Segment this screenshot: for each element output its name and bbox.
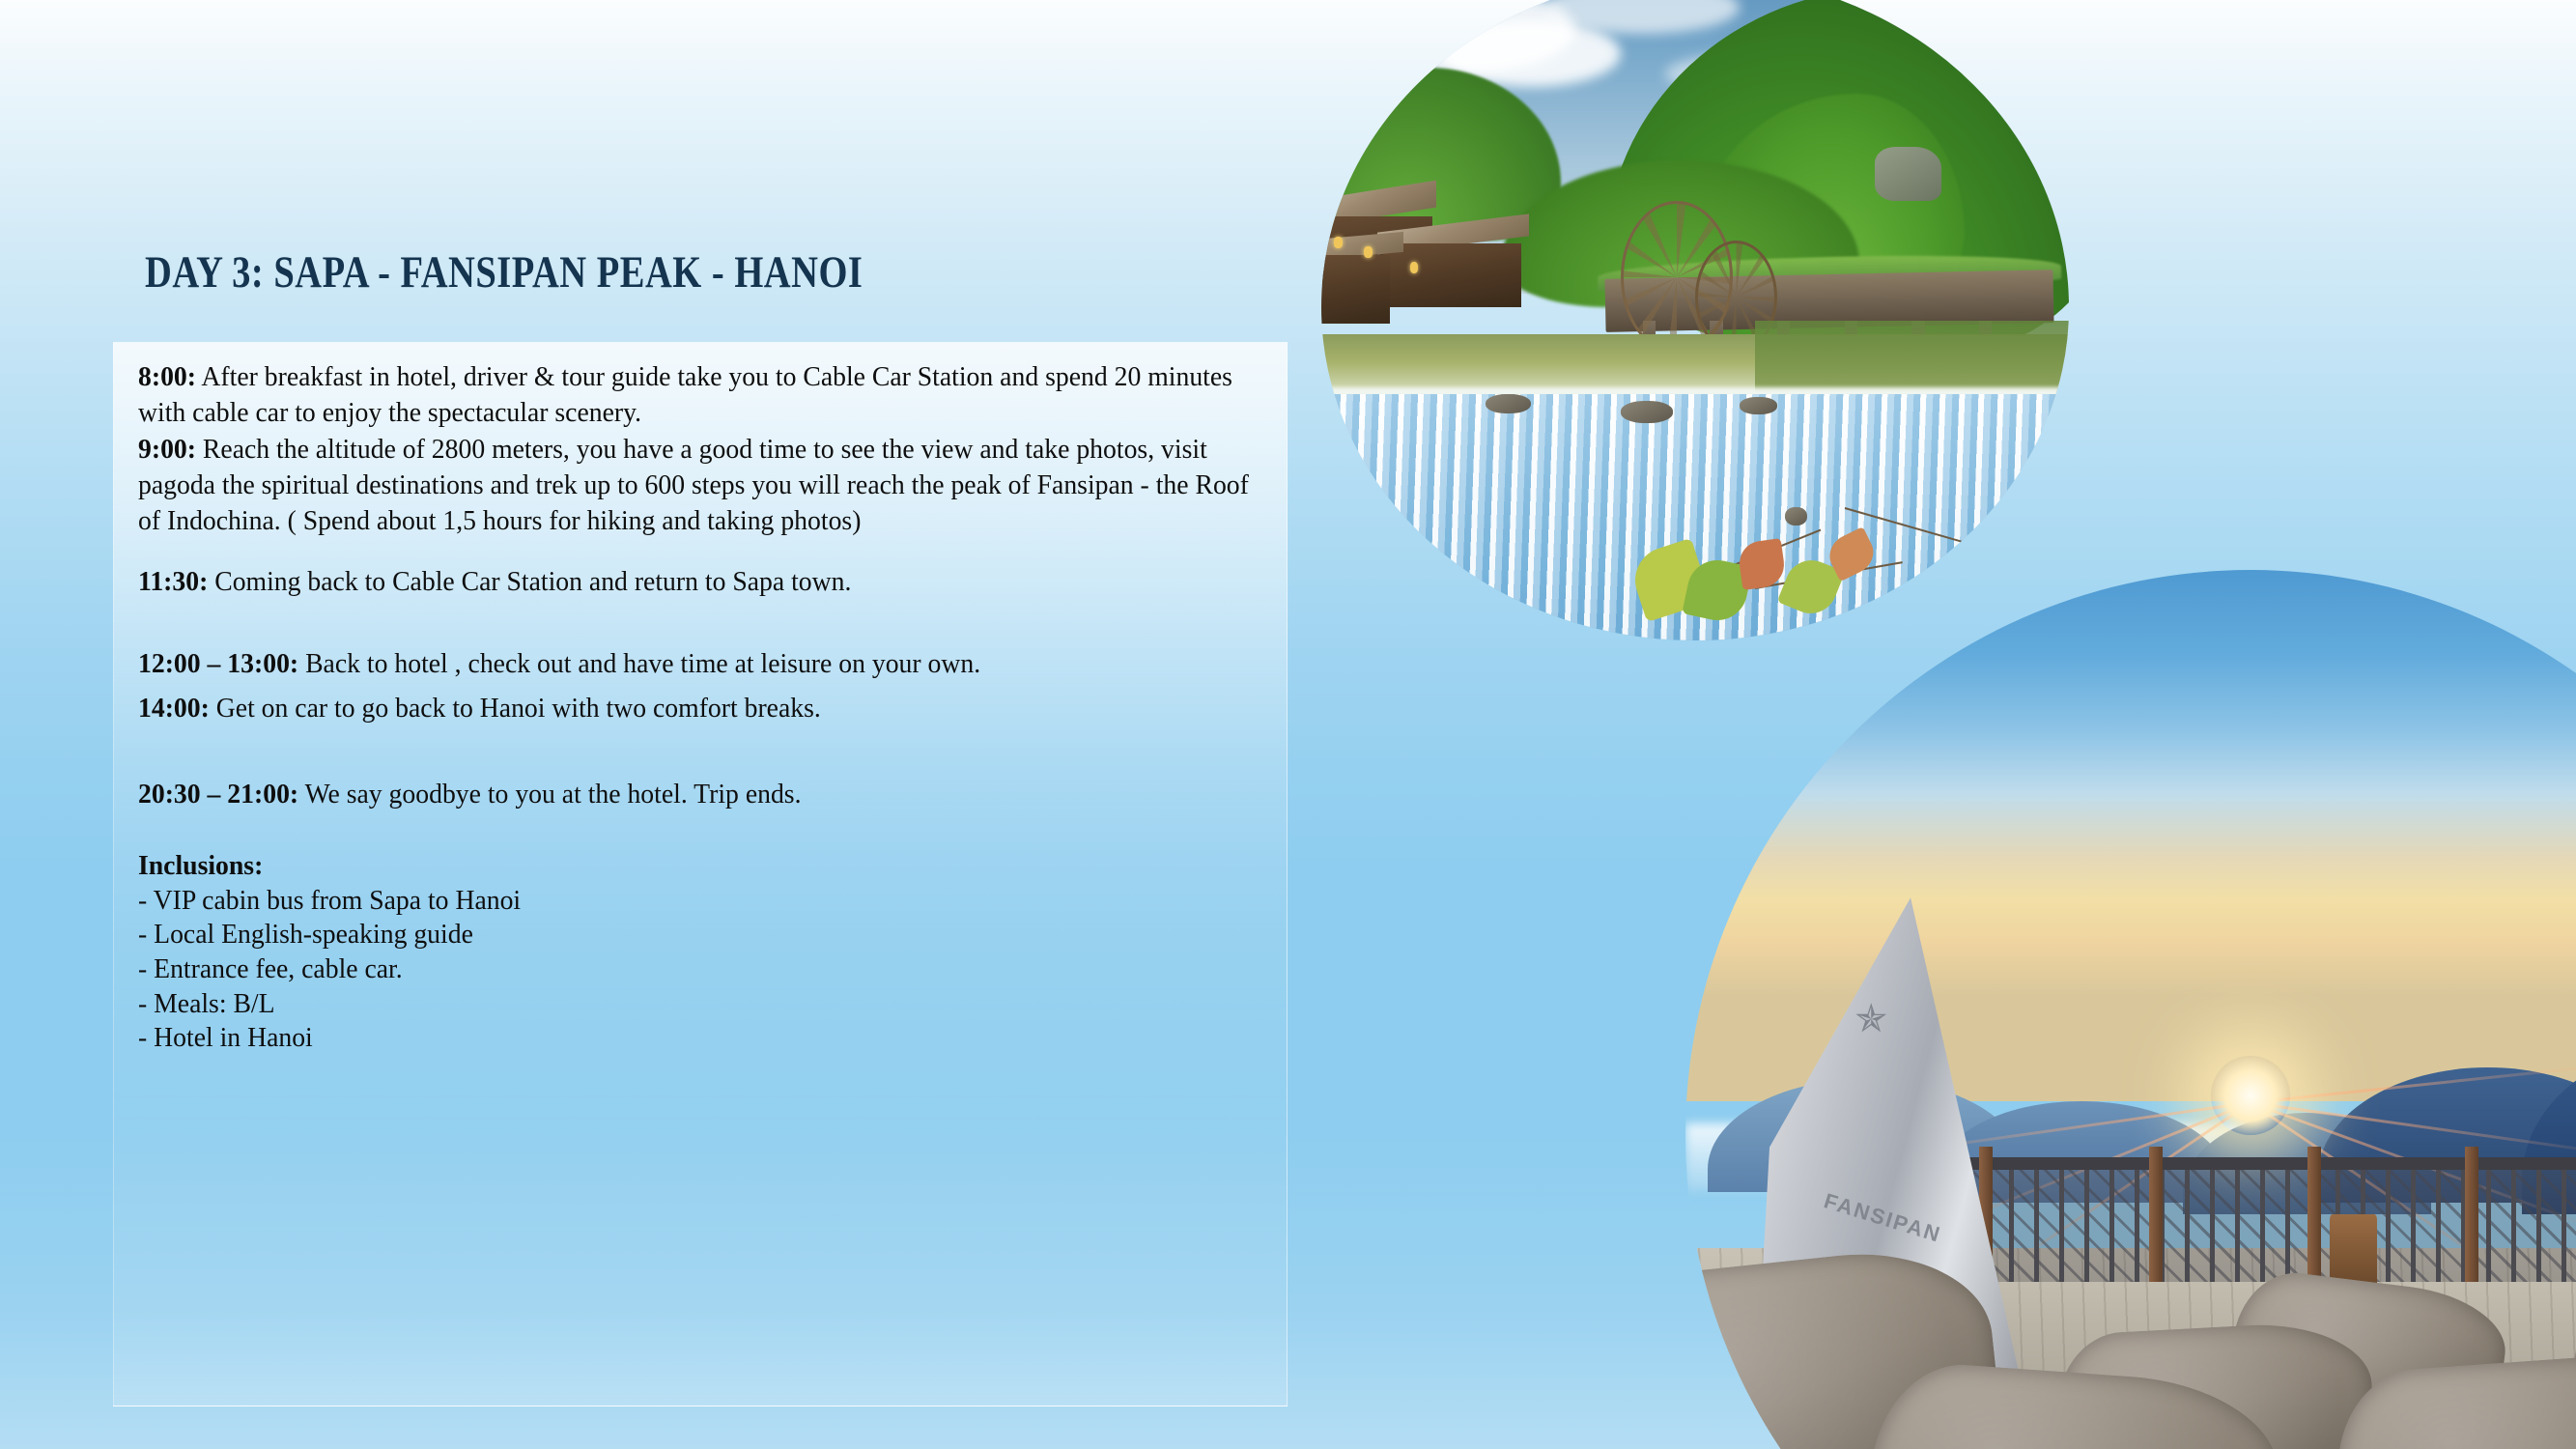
itinerary-item: 14:00: Get on car to go back to Hanoi wi…: [138, 691, 1261, 726]
itinerary-time: 9:00:: [138, 434, 196, 465]
wall: [1383, 243, 1521, 307]
itinerary-text: After breakfast in hotel, driver & tour …: [138, 361, 1232, 428]
inclusions-heading: Inclusions:: [138, 850, 263, 881]
itinerary-text: Back to hotel , check out and have time …: [298, 648, 980, 679]
lantern: [1334, 237, 1343, 248]
title-block: DAY 3: SAPA - FANSIPAN PEAK - HANOI: [145, 249, 1285, 297]
railing-post: [2307, 1147, 2321, 1282]
itinerary-time: 14:00:: [138, 693, 210, 724]
itinerary-item: 12:00 – 13:00: Back to hotel , check out…: [138, 638, 1261, 691]
spacer: [138, 601, 1261, 638]
spacer: [138, 726, 1261, 777]
inclusion-item: - Meals: B/L: [138, 988, 275, 1019]
inclusion-item: - VIP cabin bus from Sapa to Hanoi: [138, 885, 521, 916]
photo-waterfall-village: [1321, 0, 2069, 640]
cliff-rock: [1875, 147, 1942, 200]
itinerary-text: Get on car to go back to Hanoi with two …: [210, 693, 821, 724]
lantern: [1410, 262, 1419, 273]
rock: [1740, 397, 1777, 414]
itinerary-time: 8:00:: [138, 361, 196, 392]
itinerary-item: 11:30: Coming back to Cable Car Station …: [138, 564, 1261, 600]
railing-post: [2465, 1147, 2478, 1282]
spacer: [138, 539, 1261, 564]
itinerary-text: Coming back to Cable Car Station and ret…: [208, 566, 851, 597]
inclusion-item: - Entrance fee, cable car.: [138, 953, 403, 984]
itinerary-text: We say goodbye to you at the hotel. Trip…: [298, 779, 801, 810]
page-title: DAY 3: SAPA - FANSIPAN PEAK - HANOI: [145, 249, 1080, 297]
photo-fansipan-summit: ✯ FANSIPAN: [1685, 570, 2576, 1449]
spacer: [138, 812, 1261, 849]
itinerary-item: 8:00: After breakfast in hotel, driver &…: [138, 359, 1261, 432]
itinerary-item: 20:30 – 21:00: We say goodbye to you at …: [138, 777, 1261, 812]
rock: [1785, 507, 1807, 526]
rock: [1486, 394, 1530, 414]
itinerary-text: Reach the altitude of 2800 meters, you h…: [138, 434, 1249, 537]
itinerary-time: 11:30:: [138, 566, 208, 597]
itinerary-panel: 8:00: After breakfast in hotel, driver &…: [113, 342, 1288, 1406]
itinerary-time: 12:00 – 13:00:: [138, 648, 298, 679]
itinerary-time: 20:30 – 21:00:: [138, 779, 298, 810]
railing-post: [2149, 1147, 2163, 1282]
star-icon: ✯: [1855, 1000, 1907, 1051]
rock: [1621, 401, 1673, 423]
slide-canvas: ✯ FANSIPAN DAY 3: SAPA - FANSIPAN PEAK -…: [0, 0, 2576, 1449]
wall: [1321, 255, 1390, 323]
inclusion-item: - Local English-speaking guide: [138, 919, 473, 950]
waterfall-scene: [1321, 0, 2069, 640]
railing-top-rail: [1934, 1157, 2576, 1170]
itinerary-item: 9:00: Reach the altitude of 2800 meters,…: [138, 432, 1261, 540]
sun-icon: [2211, 1056, 2290, 1135]
sunrise-sky: [1685, 570, 2576, 1101]
wooden-railing: [1934, 1157, 2576, 1282]
inclusions-block: Inclusions: - VIP cabin bus from Sapa to…: [138, 849, 1261, 1056]
lantern: [1364, 246, 1373, 258]
inclusion-item: - Hotel in Hanoi: [138, 1022, 313, 1053]
